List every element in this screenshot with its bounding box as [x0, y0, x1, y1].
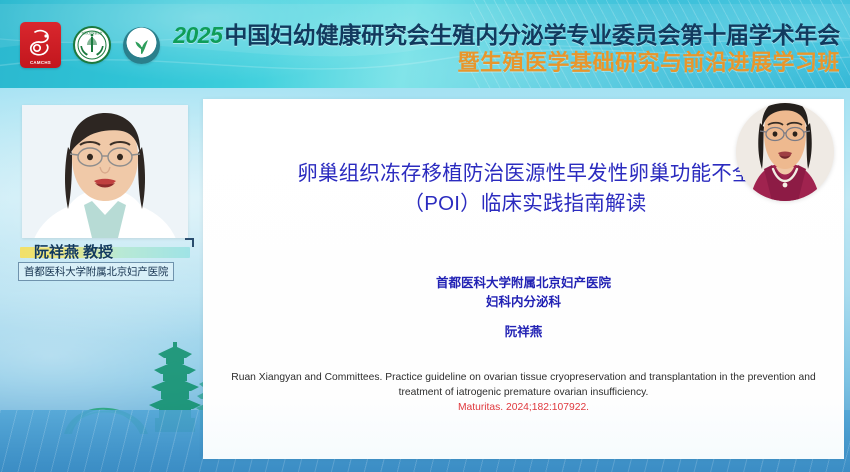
sprout-icon: [130, 33, 154, 57]
conference-year: 2025: [173, 22, 224, 48]
conference-title-line2: 暨生殖医学基础研究与前沿进展学习班: [173, 52, 840, 75]
medical-emblem-icon: 中国妇幼保健协会: [76, 29, 108, 61]
camchs-emblem-icon: [26, 27, 56, 59]
slide-affiliation-line1: 首都医科大学附属北京妇产医院: [203, 274, 844, 293]
corner-tick-decor: [185, 238, 194, 247]
slide-affiliation-line2: 妇科内分泌科: [203, 293, 844, 312]
conference-title-main: 中国妇幼健康研究会生殖内分泌学专业委员会第十届学术年会: [224, 22, 840, 48]
presenter-video-frame: [736, 103, 834, 201]
slide-presenter-name: 阮祥燕: [203, 321, 844, 340]
camchs-logo-caption: CAMCHS: [30, 60, 51, 65]
conference-title-line1: 2025中国妇幼健康研究会生殖内分泌学专业委员会第十届学术年会: [173, 24, 840, 48]
speaker-name: 阮祥燕 教授: [34, 241, 113, 262]
svg-text:中国妇幼保健协会: 中国妇幼保健协会: [82, 31, 103, 35]
sprout-logo: [123, 27, 160, 64]
speaker-name-row: 阮祥燕 教授: [20, 241, 192, 259]
slide-affiliation: 首都医科大学附属北京妇产医院 妇科内分泌科: [203, 274, 844, 313]
green-medical-emblem-logo: 中国妇幼保健协会: [73, 26, 111, 64]
slide-citation: Ruan Xiangyan and Committees. Practice g…: [231, 371, 816, 416]
speaker-portrait-illustration: [22, 105, 188, 238]
speaker-affiliation: 首都医科大学附属北京妇产医院: [18, 262, 174, 281]
presentation-screen: CAMCHS 中国妇幼保健协会: [0, 0, 850, 472]
slide-citation-journal: Maturitas. 2024;182:107922.: [231, 401, 816, 416]
slide-citation-text: Ruan Xiangyan and Committees. Practice g…: [231, 372, 815, 398]
speaker-photo: [22, 105, 188, 238]
presenter-video-bubble[interactable]: [736, 103, 834, 201]
conference-title: 2025中国妇幼健康研究会生殖内分泌学专业委员会第十届学术年会 暨生殖医学基础研…: [173, 24, 840, 75]
slide-title: 卵巢组织冻存移植防治医源性早发性卵巢功能不全（POI）临床实践指南解读: [285, 159, 765, 218]
camchs-logo: CAMCHS: [20, 22, 61, 68]
organizer-logos: CAMCHS 中国妇幼保健协会: [20, 22, 160, 68]
conference-header-banner: CAMCHS 中国妇幼保健协会: [0, 0, 850, 88]
